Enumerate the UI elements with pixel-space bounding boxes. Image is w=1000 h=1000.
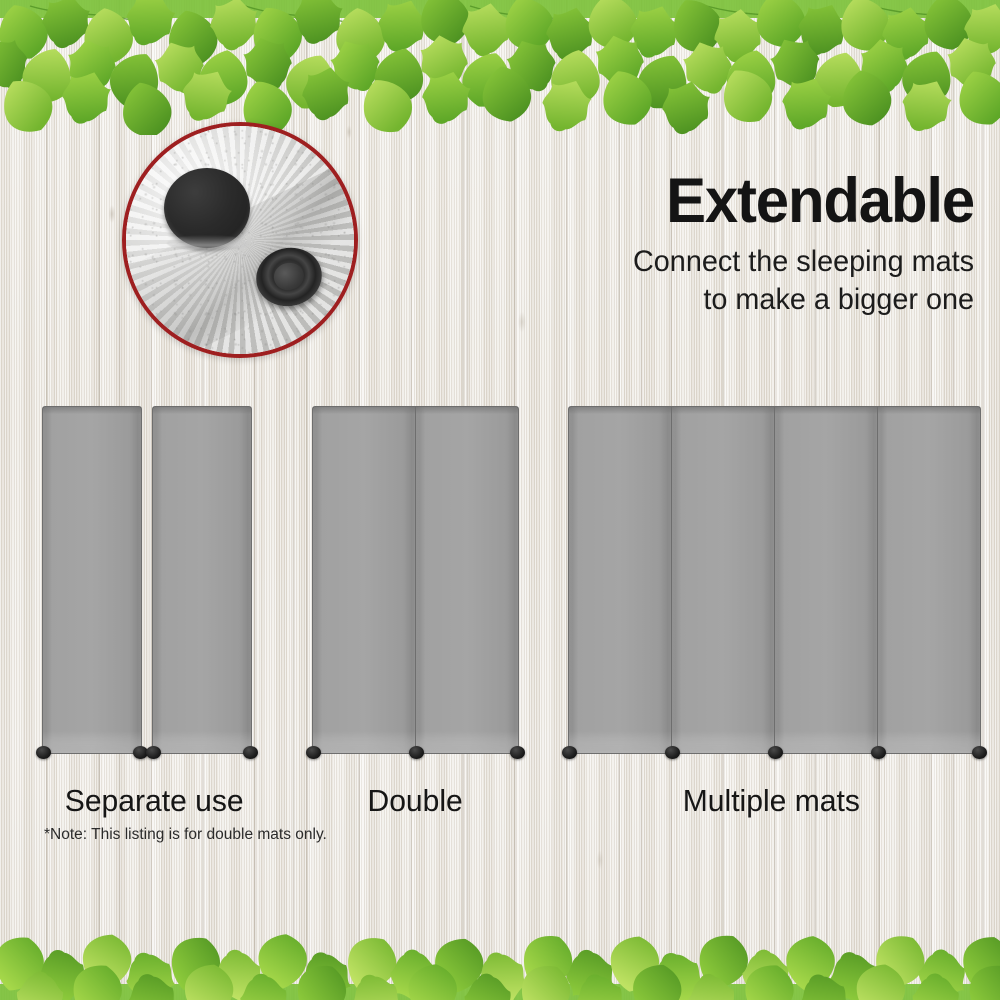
diagram-double	[312, 406, 519, 754]
mat-panel	[152, 406, 252, 754]
caption-multiple-mats: Multiple mats	[683, 783, 860, 819]
snap-dot-icon	[665, 746, 680, 759]
snap-dot-icon	[871, 746, 886, 759]
mat-panel	[774, 406, 878, 754]
mat-panel	[42, 406, 142, 754]
diagram-separate-use	[42, 406, 252, 754]
mat-panel	[568, 406, 672, 754]
snap-dot-icon	[510, 746, 525, 759]
snap-dot-icon	[972, 746, 987, 759]
mat-panel	[877, 406, 981, 754]
diagram-multiple-mats	[568, 406, 981, 754]
product-infographic: Extendable Connect the sleeping mats to …	[0, 0, 1000, 1000]
snap-dot-icon	[306, 746, 321, 759]
mat-panel	[415, 406, 519, 754]
snap-dot-icon	[768, 746, 783, 759]
snap-dot-icon	[243, 746, 258, 759]
snap-dot-icon	[146, 746, 161, 759]
snap-dot-icon	[36, 746, 51, 759]
caption-double: Double	[367, 783, 462, 819]
disclaimer-note: *Note: This listing is for double mats o…	[44, 826, 327, 844]
snap-dot-icon	[409, 746, 424, 759]
mat-panel	[312, 406, 416, 754]
mat-panel	[671, 406, 775, 754]
mat-diagrams	[0, 0, 1000, 1000]
snap-dot-icon	[562, 746, 577, 759]
caption-separate-use: Separate use	[65, 783, 244, 819]
